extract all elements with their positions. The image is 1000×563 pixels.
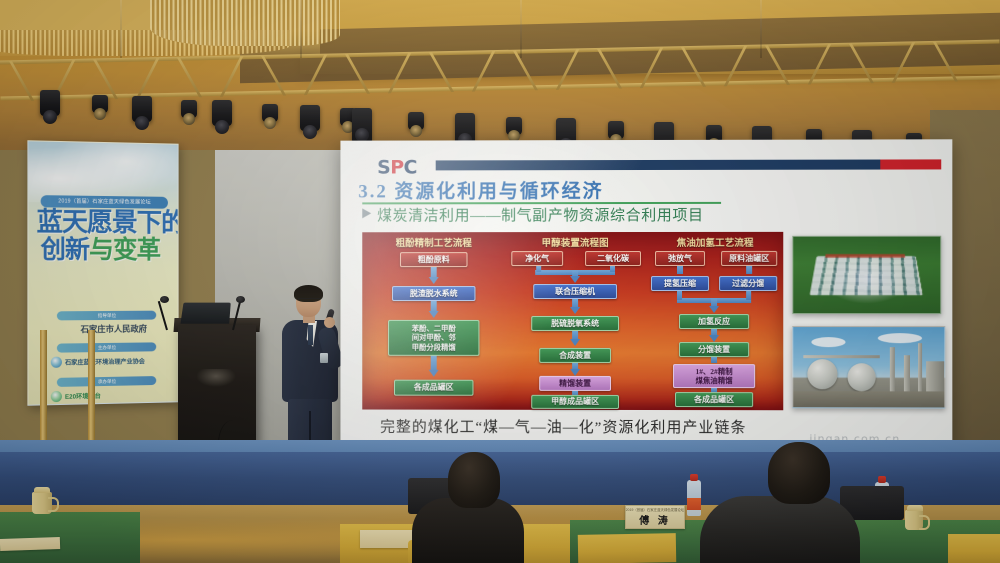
glasses-icon: [298, 298, 320, 303]
stage-light: [608, 121, 624, 139]
banner-label-guidance: 指导单位: [57, 311, 156, 321]
flow-node: 提氢压缩: [651, 276, 709, 291]
flow-node: 净化气: [511, 251, 563, 266]
distillation-tower: [890, 347, 895, 395]
projection-screen: SPC 3.2 资源化利用与循环经济 煤炭清洁利用——制气副产物资源综合利用项目…: [340, 139, 952, 452]
audience-person-head: [768, 442, 830, 504]
audience-tablecloth-right: [578, 533, 676, 563]
slide-subtitle: 煤炭清洁利用——制气副产物资源综合利用项目: [362, 204, 703, 225]
flow-node: 各成品罐区: [675, 392, 753, 407]
flow-arrow: [746, 291, 751, 300]
flow-arrow-head-icon: [570, 307, 580, 314]
microphone-head-left: [160, 296, 169, 303]
speaker-badge: [320, 353, 328, 363]
stage-skirt-fold: [120, 0, 122, 58]
slide-footer-text: 完整的煤化工“煤—气—油—化”资源化利用产业链条: [380, 416, 746, 438]
spc-logo: SPC: [377, 156, 417, 178]
flow-node: 精馏装置: [539, 376, 611, 391]
spc-logo-p: P: [390, 157, 403, 179]
stage-light: [408, 112, 424, 130]
flow-node: 脱硫脱氧系统: [531, 316, 619, 331]
flow-arrow: [677, 291, 682, 300]
plant-structure: [926, 361, 944, 395]
flow-node: 脱渣脱水系统: [392, 286, 475, 301]
stage-skirt-fold: [520, 0, 522, 58]
flow-node: 二氧化碳: [585, 251, 641, 266]
process-flow-diagram: 粗酚精制工艺流程 粗酚原料 脱渣脱水系统 苯酚、二甲酚 间对甲酚、邻 甲酚分段精…: [362, 232, 783, 410]
flow-column-header: 粗酚精制工艺流程: [366, 235, 501, 249]
banner-org-government: 石家庄市人民政府: [49, 322, 178, 335]
flow-arrow: [711, 357, 717, 363]
storage-sphere: [848, 363, 876, 391]
bullet-triangle-icon: [362, 208, 371, 218]
stage-light: [92, 95, 108, 113]
flow-arrow-head-icon: [570, 276, 580, 283]
flow-node: 分馏装置: [679, 342, 749, 357]
podium-laptop: [180, 303, 230, 324]
slide-subtitle-text: 煤炭清洁利用——制气副产物资源综合利用项目: [377, 208, 704, 224]
flow-arrow-head-icon: [709, 306, 719, 313]
banner-headline-2: 创新与变革: [41, 237, 179, 264]
aerial-plant-buildings: [810, 256, 923, 295]
banner-org-host: 石家庄蓝天环境治理产业协会: [65, 356, 145, 366]
cloud-shape: [878, 333, 922, 343]
banner-label-host: 主办单位: [57, 342, 156, 352]
stage-skirt-fold: [760, 0, 762, 58]
stage-light: [212, 100, 232, 126]
refinery-plant-photo: [792, 326, 945, 408]
microphone-head-right: [236, 296, 245, 303]
bottle-label: [687, 498, 701, 510]
stage-skirt-fold: [300, 0, 302, 58]
flow-arrow: [536, 266, 541, 272]
flow-arrow: [746, 266, 752, 274]
flow-column-header: 焦油加氢工艺流程: [649, 235, 781, 249]
conference-photo-scene: 2019（首届）石家庄蓝天绿色发展论坛 蓝天愿景下的 创新与变革 指导单位 石家…: [0, 0, 1000, 563]
flow-node: 原料油罐区: [721, 251, 777, 266]
rod-chandelier-right: [150, 0, 340, 46]
distillation-tower: [904, 355, 910, 395]
flow-node: 苯酚、二甲酚 间对甲酚、邻 甲酚分段精馏: [388, 320, 479, 356]
spc-logo-c: C: [404, 156, 417, 178]
flow-column-crude-phenol: 粗酚精制工艺流程 粗酚原料 脱渣脱水系统 苯酚、二甲酚 间对甲酚、邻 甲酚分段精…: [366, 232, 501, 410]
flow-arrow-head-icon: [570, 339, 580, 346]
aerial-plant-redline: [825, 254, 905, 257]
banner-org-organizer: E20环境平台: [65, 391, 101, 401]
banner-headline-1: 蓝天愿景下的: [37, 208, 179, 236]
flow-column-methanol: 甲醇装置流程图 净化气 二氧化碳 联合压缩机 脱硫脱氧系统 合成装置 精馏装置: [505, 232, 645, 410]
stage-light: [40, 90, 60, 116]
flow-column-tar-hydrogenation: 焦油加氢工艺流程 弛放气 原料油罐区 提氢压缩 过滤分馏 加氢反应 分馏装置 1…: [649, 232, 781, 410]
slide-header-bar: [436, 159, 942, 170]
document-sheet: [0, 537, 60, 551]
flow-arrow: [610, 266, 615, 272]
stage-light: [132, 96, 152, 122]
distillation-tower: [918, 343, 922, 395]
name-card-name: 傅 涛: [639, 512, 671, 527]
banner-stand-right: [88, 330, 95, 450]
banner-org-host-row: 石家庄蓝天环境治理产业协会: [51, 354, 178, 369]
aerial-plant-photo: [792, 236, 941, 314]
speaker-tie: [308, 325, 313, 345]
slide-title: 3.2 资源化利用与循环经济: [358, 176, 603, 203]
audience-tablecloth-right-2: [948, 534, 1000, 563]
flow-node: 各成品罐区: [394, 380, 473, 396]
audience-person-head: [448, 452, 500, 508]
storage-sphere: [807, 359, 837, 389]
flow-node: 1#、2#精制 煤焦油精馏: [673, 364, 755, 388]
stage-light: [506, 117, 522, 135]
flow-arrow-head-icon: [709, 335, 719, 342]
flow-node: 弛放气: [655, 251, 705, 266]
water-bottle: [687, 480, 701, 516]
speaker-hand: [324, 317, 335, 328]
event-banner: 2019（首届）石家庄蓝天绿色发展论坛 蓝天愿景下的 创新与变革 指导单位 石家…: [27, 140, 178, 406]
flow-column-header: 甲醇装置流程图: [505, 235, 645, 249]
flow-node: 甲醇成品罐区: [531, 395, 619, 409]
spc-logo-s: S: [377, 157, 390, 179]
flow-node: 过滤分馏: [719, 276, 777, 291]
moving-head-light: [352, 108, 372, 144]
flow-node: 加氢反应: [679, 314, 749, 329]
banner-label-organizer: 承办单位: [57, 376, 156, 387]
hotel-crest-icon: [196, 369, 236, 387]
flow-node: 粗酚原料: [400, 252, 468, 267]
flow-arrow-head-icon: [429, 370, 439, 377]
name-card: 2019（首届）石家庄蓝天绿色发展论坛 傅 涛: [625, 505, 685, 529]
plant-ground: [793, 391, 944, 407]
banner-headline-2-green: 与变革: [89, 236, 160, 264]
flow-node: 合成装置: [539, 348, 611, 363]
audience-person-right: [700, 496, 860, 563]
pipe-rack: [803, 355, 879, 358]
flow-arrow-head-icon: [429, 277, 439, 284]
banner-stand-left: [40, 330, 47, 450]
tea-cup-with-lid: [32, 492, 52, 514]
flow-arrow: [677, 266, 683, 274]
banner-headline-2-blue: 创新: [41, 236, 89, 264]
stage-light: [300, 105, 320, 131]
banner-org-organizer-row: E20环境平台: [51, 388, 178, 404]
cloud-shape: [811, 337, 845, 347]
circle-blue-logo-icon: [51, 357, 62, 368]
stage-light: [181, 100, 197, 118]
flow-arrow-head-icon: [570, 369, 580, 376]
stage-light: [262, 104, 278, 122]
flow-node: 联合压缩机: [533, 284, 617, 299]
circle-green-logo-icon: [51, 391, 62, 402]
tea-cup: [905, 510, 923, 530]
flow-arrow-head-icon: [429, 311, 439, 318]
